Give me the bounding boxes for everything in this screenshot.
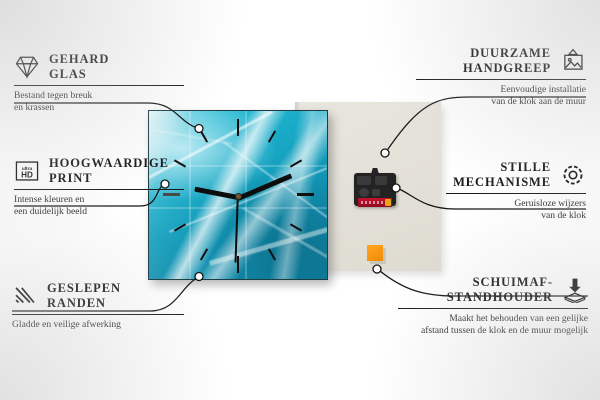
feature-divider xyxy=(14,189,184,190)
feature-title-line1: GEHARD xyxy=(49,52,109,66)
feature-duurzame-handgreep: DUURZAME HANDGREEP Eenvoudige installati… xyxy=(416,46,586,107)
diagonal-edges-icon xyxy=(12,283,38,309)
feature-desc-line2: en krassen xyxy=(14,102,54,113)
feature-divider xyxy=(12,314,184,315)
feature-stille-mechanisme: STILLE MECHANISME Geruisloze wijzers van… xyxy=(446,160,586,221)
feature-description: Gladde en veilige afwerking xyxy=(12,319,184,331)
feature-desc-line2: van de klok xyxy=(541,210,586,221)
feature-header: ultra HD HOOGWAARDIGE PRINT xyxy=(14,156,184,185)
infographic-canvas: GEHARD GLAS Bestand tegen breuk en krass… xyxy=(0,0,600,400)
feature-description: Eenvoudige installatie van de klok aan d… xyxy=(416,84,586,107)
feature-description: Geruisloze wijzers van de klok xyxy=(446,198,586,221)
svg-text:HD: HD xyxy=(21,170,33,179)
feature-title-line1: STILLE xyxy=(500,160,551,174)
diamond-icon xyxy=(14,54,40,80)
feature-title-line1: HOOGWAARDIGE xyxy=(49,156,169,170)
feature-description: Intense kleuren en een duidelijk beeld xyxy=(14,194,184,217)
feature-desc-line1: Gladde en veilige afwerking xyxy=(12,319,121,330)
feature-schuimafstandhouder: SCHUIMAF- STANDHOUDER Maakt het behouden… xyxy=(398,275,588,336)
feature-title-line2: RANDEN xyxy=(47,296,106,310)
feature-title-line2: GLAS xyxy=(49,67,87,81)
feature-title-line2: HANDGREEP xyxy=(463,61,551,75)
feature-desc-line1: Geruisloze wijzers xyxy=(514,198,586,209)
feature-title-line2: PRINT xyxy=(49,171,92,185)
feature-header: GESLEPEN RANDEN xyxy=(12,281,184,310)
feature-title-line1: GESLEPEN xyxy=(47,281,121,295)
feature-hoogwaardige-print: ultra HD HOOGWAARDIGE PRINT Intense kleu… xyxy=(14,156,184,217)
feature-title: SCHUIMAF- STANDHOUDER xyxy=(447,275,553,304)
feature-divider xyxy=(14,85,184,86)
feature-title: GEHARD GLAS xyxy=(49,52,109,81)
feature-divider xyxy=(446,193,586,194)
ultra-hd-icon: ultra HD xyxy=(14,158,40,184)
foam-spacer-icon xyxy=(562,277,588,303)
feature-desc-line1: Eenvoudige installatie xyxy=(500,84,586,95)
gear-icon xyxy=(560,162,586,188)
feature-desc-line2: een duidelijk beeld xyxy=(14,206,87,217)
feature-header: STILLE MECHANISME xyxy=(446,160,586,189)
feature-title-line2: STANDHOUDER xyxy=(447,290,553,304)
feature-title: GESLEPEN RANDEN xyxy=(47,281,121,310)
feature-description: Maakt het behouden van een gelijke afsta… xyxy=(398,313,588,336)
feature-desc-line1: Intense kleuren en xyxy=(14,194,84,205)
feature-divider xyxy=(416,79,586,80)
feature-description: Bestand tegen breuk en krassen xyxy=(14,90,184,113)
feature-title-line2: MECHANISME xyxy=(453,175,551,189)
feature-title: DUURZAME HANDGREEP xyxy=(463,46,551,75)
feature-title-line1: SCHUIMAF- xyxy=(473,275,553,289)
feature-desc-line1: Maakt het behouden van een gelijke xyxy=(449,313,588,324)
feature-header: DUURZAME HANDGREEP xyxy=(416,46,586,75)
feature-geslepen-randen: GESLEPEN RANDEN Gladde en veilige afwerk… xyxy=(12,281,184,331)
hanging-frame-icon xyxy=(560,48,586,74)
feature-desc-line2: afstand tussen de klok en de muur mogeli… xyxy=(421,325,588,336)
feature-title: HOOGWAARDIGE PRINT xyxy=(49,156,169,185)
feature-desc-line2: van de klok aan de muur xyxy=(491,96,586,107)
feature-gehard-glas: GEHARD GLAS Bestand tegen breuk en krass… xyxy=(14,52,184,113)
feature-title: STILLE MECHANISME xyxy=(453,160,551,189)
feature-title-line1: DUURZAME xyxy=(470,46,551,60)
feature-header: SCHUIMAF- STANDHOUDER xyxy=(398,275,588,304)
feature-divider xyxy=(398,308,588,309)
feature-header: GEHARD GLAS xyxy=(14,52,184,81)
feature-desc-line1: Bestand tegen breuk xyxy=(14,90,92,101)
